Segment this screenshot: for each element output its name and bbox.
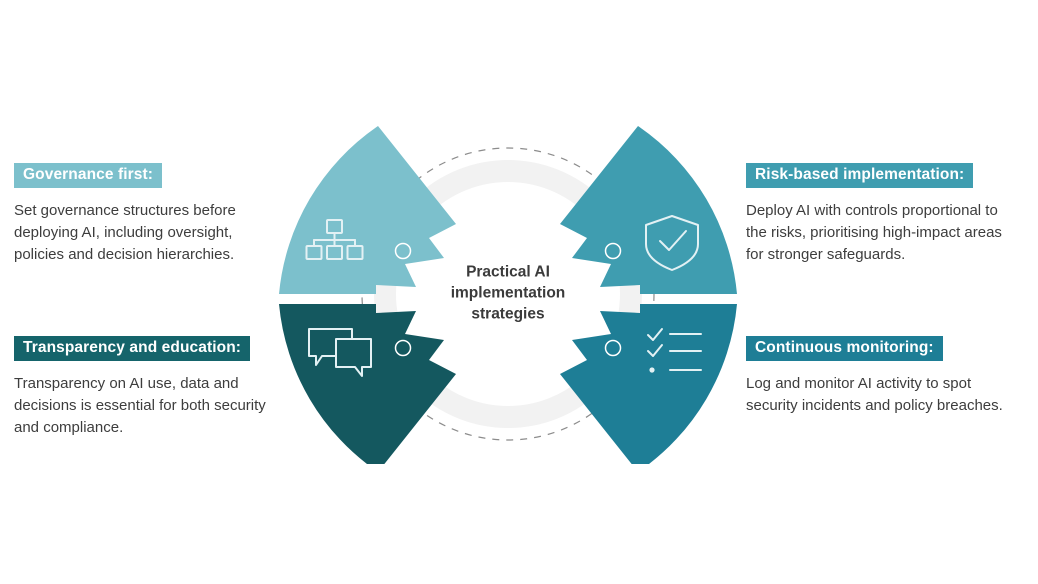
- connector-node-risk-based: [606, 244, 621, 259]
- segment-description-governance: Set governance structures before deployi…: [14, 200, 276, 265]
- segment-description-monitoring: Log and monitor AI activity to spot secu…: [746, 373, 1014, 417]
- petal-shape-transparency[interactable]: [279, 304, 456, 464]
- petal-shape-governance[interactable]: [279, 126, 456, 294]
- segment-description-risk-based: Deploy AI with controls proportional to …: [746, 200, 1014, 265]
- segment-tag-monitoring: Continuous monitoring:: [746, 336, 943, 361]
- segment-petal-monitoring[interactable]: [560, 304, 737, 464]
- segment-text-risk-based: Risk-based implementation: Deploy AI wit…: [746, 163, 1036, 266]
- segment-description-transparency: Transparency on AI use, data and decisio…: [14, 373, 276, 438]
- strategy-wheel: Practical AI implementation strategies: [258, 124, 758, 464]
- segment-petal-governance[interactable]: [279, 126, 456, 294]
- connector-node-monitoring: [606, 341, 621, 356]
- diagram-canvas: Governance first: Set governance structu…: [0, 0, 1038, 584]
- petal-shape-risk-based[interactable]: [560, 126, 737, 294]
- segment-text-monitoring: Continuous monitoring: Log and monitor A…: [746, 336, 1036, 417]
- segment-petal-transparency[interactable]: [279, 304, 456, 464]
- connector-node-governance: [396, 244, 411, 259]
- connector-node-transparency: [396, 341, 411, 356]
- segment-tag-risk-based: Risk-based implementation:: [746, 163, 973, 188]
- segment-petal-risk-based[interactable]: [560, 126, 737, 294]
- petal-shape-monitoring[interactable]: [560, 304, 737, 464]
- segment-tag-governance: Governance first:: [14, 163, 162, 188]
- segment-tag-transparency: Transparency and education:: [14, 336, 250, 361]
